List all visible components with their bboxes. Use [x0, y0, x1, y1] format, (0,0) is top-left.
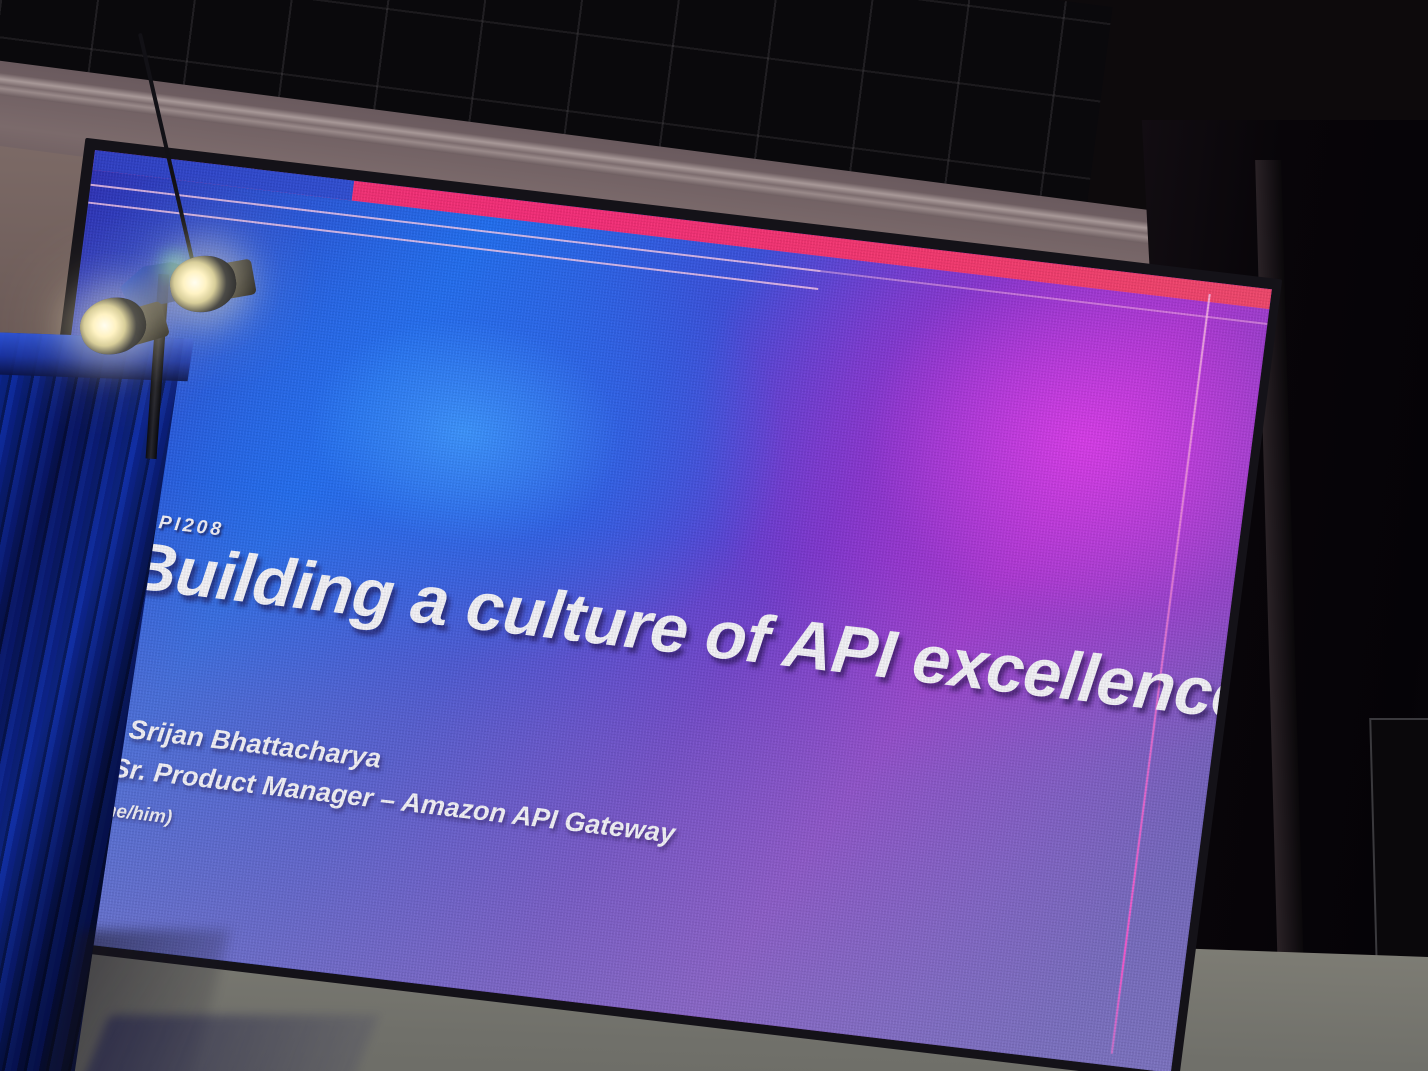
- stage-shadow-floor: [81, 1015, 379, 1071]
- slide-title: Building a culture of API excellence: [123, 529, 1253, 734]
- speaker-role: Sr. Product Manager – Amazon API Gateway: [110, 752, 677, 849]
- conference-stage-photo: API208 Building a culture of API excelle…: [0, 0, 1428, 1071]
- stage-light-rig: [70, 240, 310, 440]
